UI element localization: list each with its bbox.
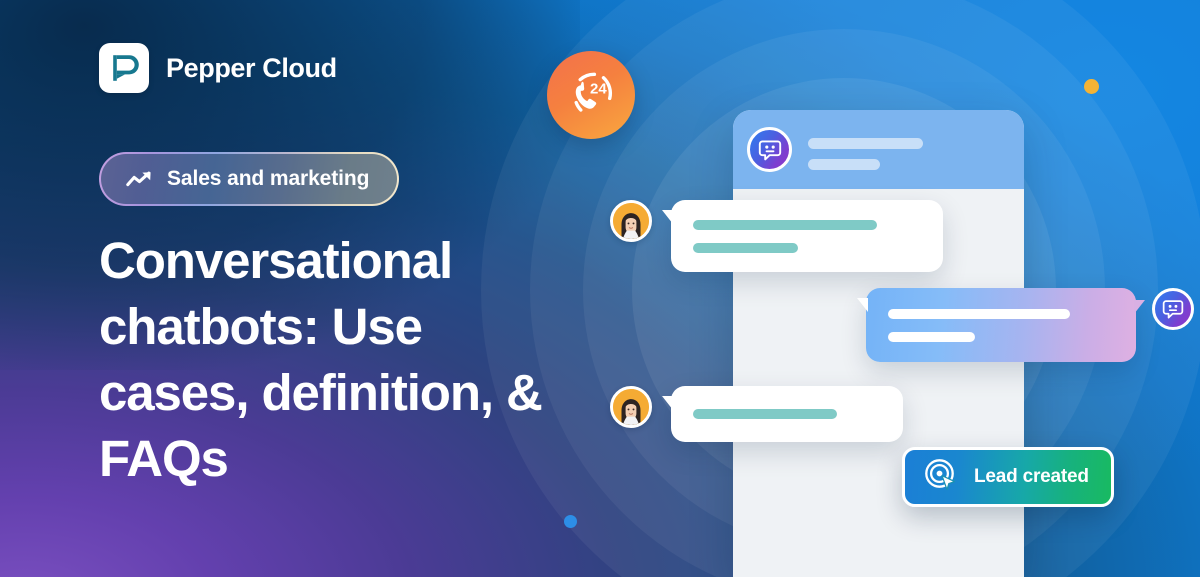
user-avatar-photo [610, 386, 652, 428]
chat-header [733, 110, 1024, 189]
hero-banner: Pepper Cloud Sales and marketing Convers… [0, 0, 1200, 577]
bot-message-1 [866, 288, 1194, 362]
yellow-dot-icon [1084, 79, 1099, 94]
user-message-2 [610, 386, 903, 442]
message-line [693, 243, 798, 253]
user-message-bubble-1 [671, 200, 943, 272]
category-pill-label: Sales and marketing [167, 167, 369, 191]
message-line [693, 409, 837, 419]
blue-dot-icon [564, 515, 577, 528]
user-message-bubble-2 [671, 386, 903, 442]
message-line [888, 332, 975, 342]
lead-created-badge: Lead created [902, 447, 1114, 507]
brand-logo[interactable]: Pepper Cloud [99, 43, 337, 93]
hero-text-column: Pepper Cloud Sales and marketing Convers… [0, 0, 560, 577]
support-badge-label: 24 [590, 81, 607, 98]
header-line-1 [808, 138, 923, 149]
message-line [693, 220, 877, 230]
lead-created-label: Lead created [974, 466, 1089, 488]
chatbot-avatar-icon [747, 127, 792, 172]
user-avatar-photo [610, 200, 652, 242]
target-cursor-icon [923, 457, 959, 498]
support-24-7-badge: 24 [547, 51, 635, 139]
page-title: Conversational chatbots: Use cases, defi… [99, 228, 569, 492]
chat-header-placeholder [808, 138, 923, 170]
trending-up-icon [126, 171, 154, 188]
user-message-1 [610, 200, 943, 272]
category-pill[interactable]: Sales and marketing [99, 152, 399, 206]
pepper-cloud-flag-icon [99, 43, 149, 93]
brand-name: Pepper Cloud [166, 53, 337, 84]
message-line [888, 309, 1070, 319]
bot-message-bubble [866, 288, 1136, 362]
header-line-2 [808, 159, 880, 170]
chatbot-avatar-icon [1152, 288, 1194, 330]
